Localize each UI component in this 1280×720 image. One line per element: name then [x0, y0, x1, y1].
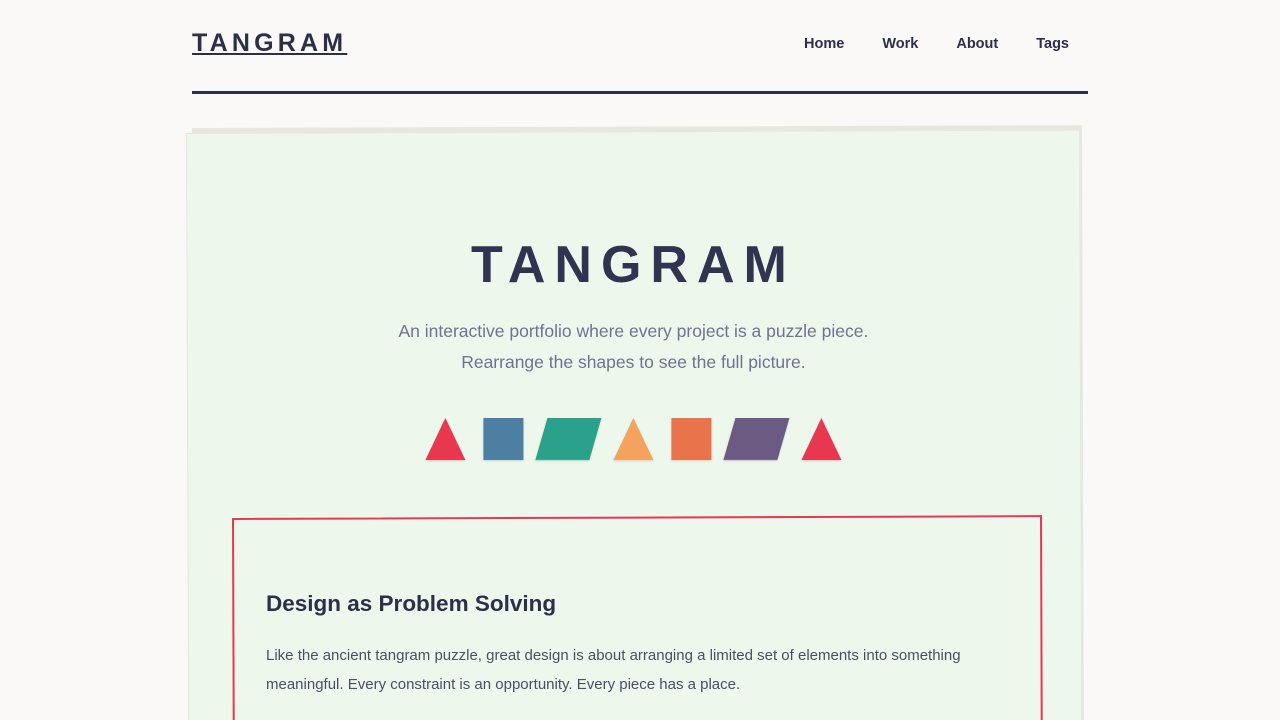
- nav-link-about[interactable]: About: [937, 30, 1017, 58]
- content-card-title: Design as Problem Solving: [266, 590, 1008, 617]
- tangram-piece-square-blue[interactable]: [483, 418, 523, 460]
- page-root: TANGRAM Home Work About Tags TANGRAM An …: [0, 0, 1280, 720]
- hero-subtitle-line-2: Rearrange the shapes to see the full pic…: [187, 347, 1079, 378]
- tangram-piece-parallelogram-teal[interactable]: [535, 418, 601, 460]
- nav-link-home[interactable]: Home: [785, 30, 863, 58]
- tangram-piece-triangle-red-2[interactable]: [801, 418, 841, 460]
- tangram-piece-square-coral[interactable]: [671, 418, 711, 460]
- site-header: TANGRAM Home Work About Tags: [192, 0, 1088, 94]
- hero-panel-content: TANGRAM An interactive portfolio where e…: [187, 239, 1079, 460]
- hero-title: TANGRAM: [187, 239, 1079, 291]
- hero-subtitle-line-1: An interactive portfolio where every pro…: [187, 316, 1079, 347]
- content-card[interactable]: Design as Problem Solving Like the ancie…: [232, 515, 1043, 720]
- tangram-piece-parallelogram-purple[interactable]: [723, 418, 789, 460]
- nav-link-tags[interactable]: Tags: [1017, 30, 1088, 58]
- content-card-inner: Design as Problem Solving Like the ancie…: [234, 520, 1040, 699]
- main-nav: Home Work About Tags: [785, 30, 1088, 62]
- tangram-piece-triangle-red[interactable]: [425, 418, 465, 460]
- site-logo[interactable]: TANGRAM: [192, 31, 347, 60]
- tangram-piece-triangle-orange[interactable]: [613, 418, 653, 460]
- hero-subtitle: An interactive portfolio where every pro…: [187, 316, 1079, 378]
- nav-link-work[interactable]: Work: [863, 30, 937, 58]
- tangram-shape-row: [187, 414, 1079, 460]
- content-card-body: Like the ancient tangram puzzle, great d…: [266, 641, 1008, 699]
